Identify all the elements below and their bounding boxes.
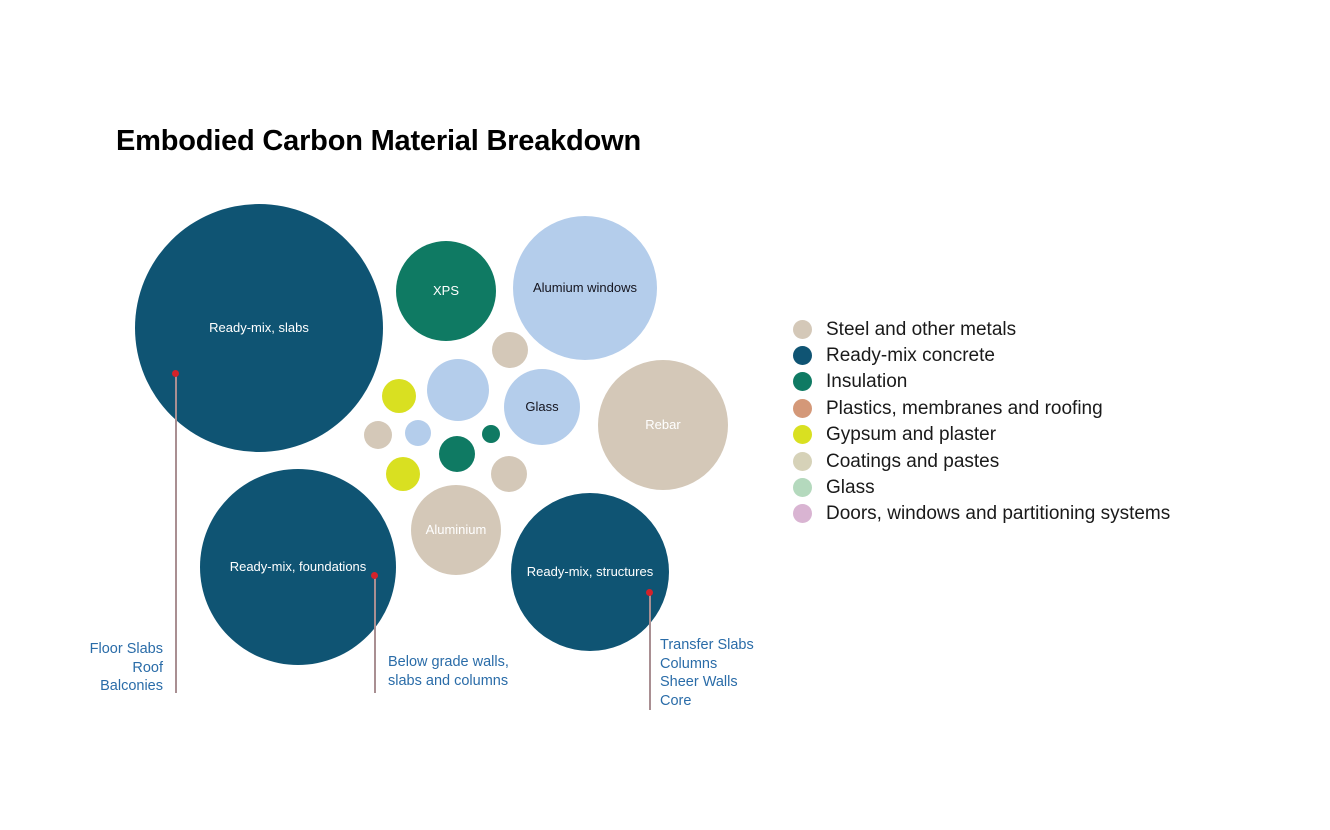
leader-dot-floor-slabs xyxy=(172,370,179,377)
bubble-unlabeled-11[interactable] xyxy=(386,457,420,491)
bubble-ready-mix-foundations[interactable]: Ready-mix, foundations xyxy=(200,469,396,665)
legend-item-label: Coatings and pastes xyxy=(826,452,999,471)
bubble-unlabeled-13[interactable] xyxy=(364,421,392,449)
legend-item-label: Insulation xyxy=(826,372,907,391)
leader-dot-below-grade-walls xyxy=(371,572,378,579)
annotation-floor-slabs: Floor Slabs Roof Balconies xyxy=(20,640,163,696)
legend-item-plastics-membranes-and-roofing[interactable]: Plastics, membranes and roofing xyxy=(793,395,1293,421)
bubble-unlabeled-9[interactable] xyxy=(492,332,528,368)
bubble-ready-mix-structures[interactable]: Ready-mix, structures xyxy=(511,493,669,651)
legend-swatch-icon xyxy=(793,478,812,497)
legend-item-label: Steel and other metals xyxy=(826,320,1016,339)
leader-line-transfer-slabs xyxy=(649,594,651,710)
legend-item-insulation[interactable]: Insulation xyxy=(793,369,1293,395)
legend-swatch-icon xyxy=(793,425,812,444)
legend-item-gypsum-and-plaster[interactable]: Gypsum and plaster xyxy=(793,422,1293,448)
legend-item-ready-mix-concrete[interactable]: Ready-mix concrete xyxy=(793,342,1293,368)
legend-item-doors-windows-and-partitioning-systems[interactable]: Doors, windows and partitioning systems xyxy=(793,501,1293,527)
bubble-label: Alumium windows xyxy=(533,281,637,296)
bubble-label: Aluminium xyxy=(426,523,487,538)
legend-swatch-icon xyxy=(793,504,812,523)
legend-item-label: Gypsum and plaster xyxy=(826,425,996,444)
bubble-unlabeled-14[interactable] xyxy=(405,420,431,446)
legend-swatch-icon xyxy=(793,452,812,471)
bubble-label: Rebar xyxy=(645,418,680,433)
legend-item-label: Glass xyxy=(826,478,875,497)
bubble-aluminium[interactable]: Aluminium xyxy=(411,485,501,575)
leader-line-floor-slabs xyxy=(175,375,177,693)
bubble-label: Glass xyxy=(525,400,558,415)
legend-swatch-icon xyxy=(793,399,812,418)
chart-legend: Steel and other metalsReady-mix concrete… xyxy=(793,316,1293,527)
legend-item-glass[interactable]: Glass xyxy=(793,474,1293,500)
legend-swatch-icon xyxy=(793,372,812,391)
bubble-label: Ready-mix, foundations xyxy=(230,560,367,575)
bubble-label: Ready-mix, slabs xyxy=(209,321,309,336)
bubble-alumium-windows[interactable]: Alumium windows xyxy=(513,216,657,360)
bubble-label: XPS xyxy=(433,284,459,299)
bubble-label: Ready-mix, structures xyxy=(527,565,653,580)
legend-swatch-icon xyxy=(793,346,812,365)
bubble-unlabeled-10[interactable] xyxy=(382,379,416,413)
bubble-unlabeled-12[interactable] xyxy=(439,436,475,472)
chart-canvas: Embodied Carbon Material Breakdown Ready… xyxy=(0,0,1330,830)
bubble-unlabeled-16[interactable] xyxy=(491,456,527,492)
leader-line-below-grade-walls xyxy=(374,577,376,693)
bubble-xps[interactable]: XPS xyxy=(396,241,496,341)
bubble-rebar[interactable]: Rebar xyxy=(598,360,728,490)
bubble-ready-mix-slabs[interactable]: Ready-mix, slabs xyxy=(135,204,383,452)
bubble-unlabeled-15[interactable] xyxy=(482,425,500,443)
legend-item-label: Plastics, membranes and roofing xyxy=(826,399,1103,418)
legend-item-coatings-and-pastes[interactable]: Coatings and pastes xyxy=(793,448,1293,474)
bubble-glass[interactable]: Glass xyxy=(504,369,580,445)
leader-dot-transfer-slabs xyxy=(646,589,653,596)
annotation-transfer-slabs: Transfer Slabs Columns Sheer Walls Core xyxy=(660,636,860,710)
annotation-below-grade-walls: Below grade walls, slabs and columns xyxy=(388,653,588,690)
legend-item-label: Ready-mix concrete xyxy=(826,346,995,365)
legend-item-label: Doors, windows and partitioning systems xyxy=(826,504,1170,523)
legend-item-steel-and-other-metals[interactable]: Steel and other metals xyxy=(793,316,1293,342)
bubble-unlabeled-8[interactable] xyxy=(427,359,489,421)
legend-swatch-icon xyxy=(793,320,812,339)
